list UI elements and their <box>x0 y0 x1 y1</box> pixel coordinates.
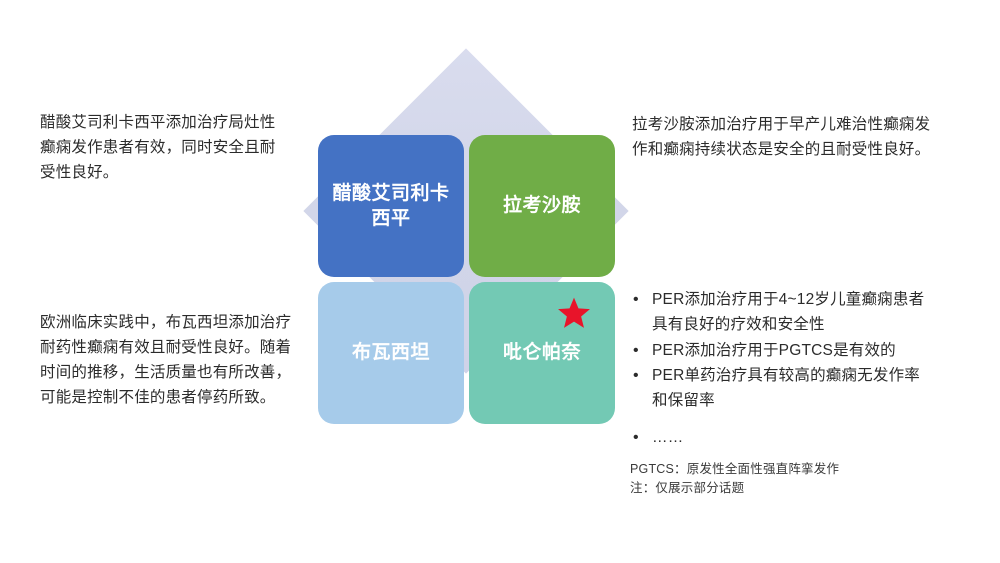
quadrant-card-eslicarbazepine[interactable]: 醋酸艾司利卡西平 <box>318 135 464 277</box>
note-top-left: 醋酸艾司利卡西平添加治疗局灶性癫痫发作患者有效，同时安全且耐受性良好。 <box>40 110 290 185</box>
note-top-right: 拉考沙胺添加治疗用于早产儿难治性癫痫发作和癫痫持续状态是安全的且耐受性良好。 <box>632 112 932 162</box>
quadrant-card-perampanel[interactable]: 吡仑帕奈 <box>469 282 615 424</box>
list-item: PER单药治疗具有较高的癫痫无发作率和保留率 <box>630 364 935 414</box>
perampanel-bullet-list: PER添加治疗用于4~12岁儿童癫痫患者具有良好的疗效和安全性 PER添加治疗用… <box>630 288 935 452</box>
star-icon <box>557 296 591 330</box>
quadrant-card-label: 醋酸艾司利卡西平 <box>328 181 454 231</box>
quadrant-card-label: 吡仑帕奈 <box>503 340 581 365</box>
quadrant-card-label: 拉考沙胺 <box>503 193 581 218</box>
quadrant-card-label: 布瓦西坦 <box>352 340 430 365</box>
list-item: PER添加治疗用于4~12岁儿童癫痫患者具有良好的疗效和安全性 <box>630 288 935 338</box>
footnote: PGTCS：原发性全面性强直阵挛发作 注：仅展示部分话题 <box>630 460 950 499</box>
slide-canvas: 醋酸艾司利卡西平 拉考沙胺 布瓦西坦 吡仑帕奈 醋酸艾司利卡西平添加治疗局灶性癫… <box>0 0 1000 563</box>
list-item: PER添加治疗用于PGTCS是有效的 <box>630 339 935 364</box>
note-bottom-left: 欧洲临床实践中，布瓦西坦添加治疗耐药性癫痫有效且耐受性良好。随着时间的推移，生活… <box>40 310 292 410</box>
quadrant-grid: 醋酸艾司利卡西平 拉考沙胺 布瓦西坦 吡仑帕奈 <box>318 135 615 426</box>
quadrant-card-brivaracetam[interactable]: 布瓦西坦 <box>318 282 464 424</box>
footnote-line-disclaimer: 注：仅展示部分话题 <box>630 479 950 498</box>
quadrant-card-lacosamide[interactable]: 拉考沙胺 <box>469 135 615 277</box>
list-item: …… <box>630 426 935 451</box>
footnote-line-abbreviation: PGTCS：原发性全面性强直阵挛发作 <box>630 460 950 479</box>
